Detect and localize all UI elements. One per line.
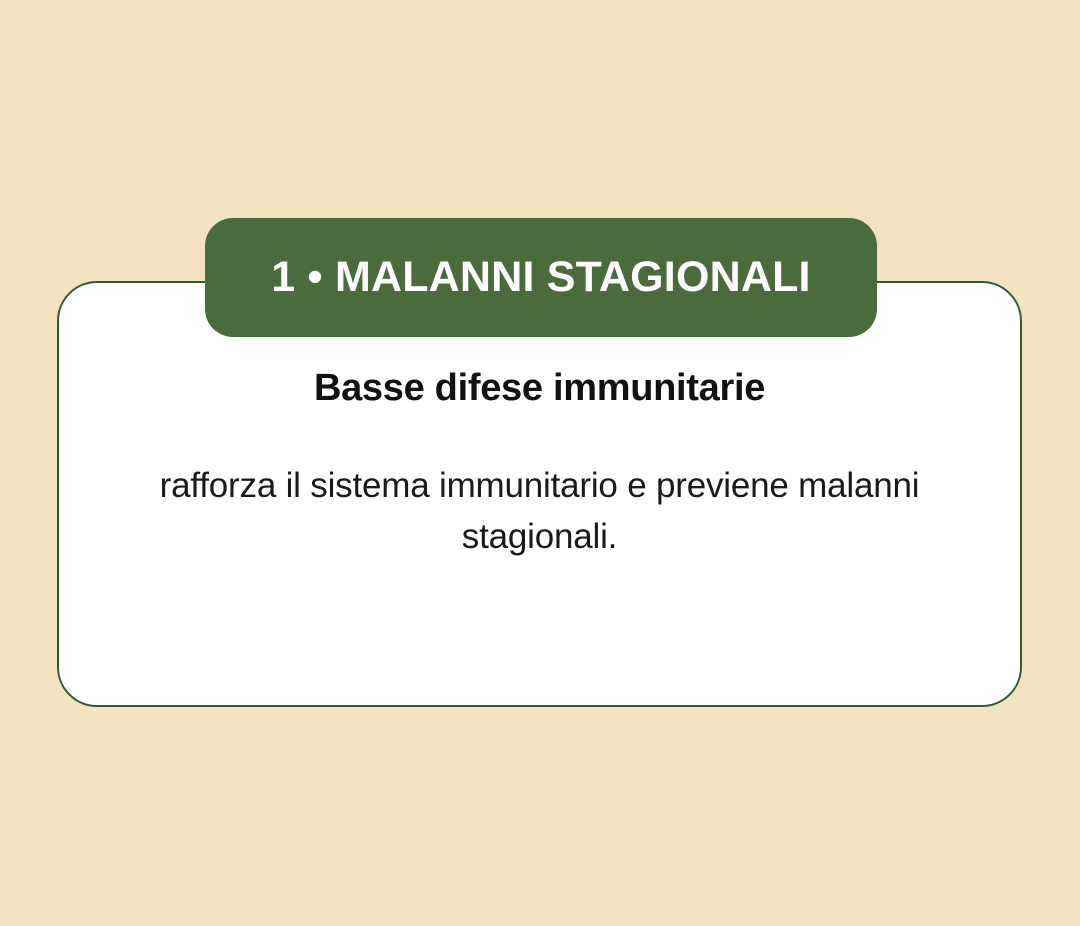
info-card-stage: 1 • MALANNI STAGIONALI Basse difese immu… [0, 0, 1080, 926]
content-card [57, 281, 1022, 707]
header-badge: 1 • MALANNI STAGIONALI [205, 218, 877, 337]
header-badge-label: 1 • MALANNI STAGIONALI [271, 256, 810, 299]
